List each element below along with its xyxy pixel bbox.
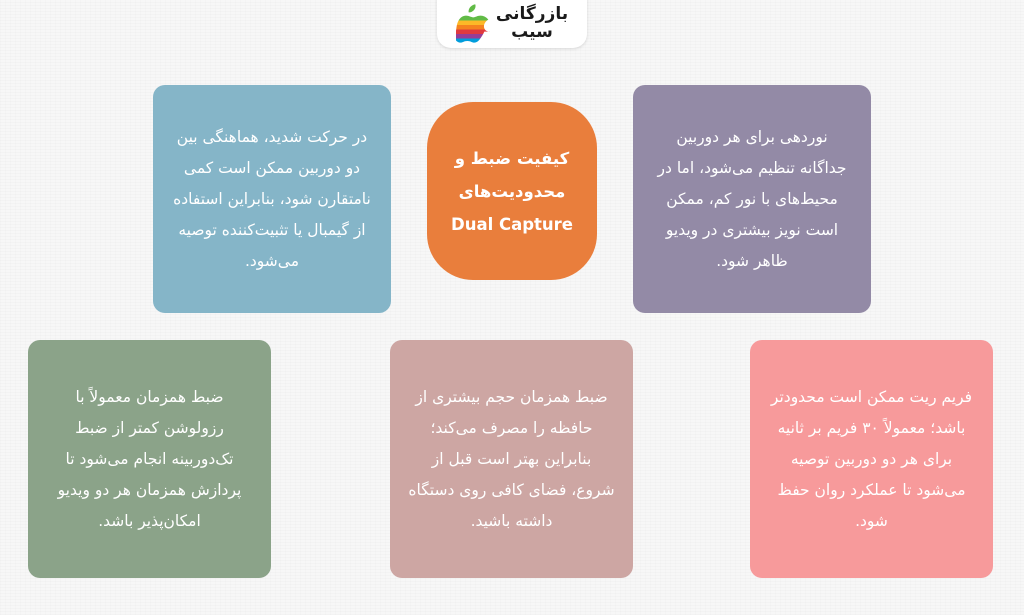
card-exposure-noise-text: نوردهی برای هر دوربین جداگانه تنظیم می‌ش…: [633, 122, 871, 277]
infographic-canvas: بازرگانی سیب: [0, 0, 1024, 615]
card-resolution-text: ضبط همزمان معمولاً با رزولوشن کمتر از ضب…: [28, 382, 271, 537]
brand-name-line-2: سیب: [496, 24, 568, 41]
hub-title-text: کیفیت ضبط و محدودیت‌های Dual Capture: [427, 142, 597, 241]
card-storage: ضبط همزمان حجم بیشتری از حافظه را مصرف م…: [390, 340, 633, 578]
card-motion-sync: در حرکت شدید، هماهنگی بین دو دوربین ممکن…: [153, 85, 391, 313]
brand-name: بازرگانی سیب: [496, 6, 568, 41]
hub-title-card: کیفیت ضبط و محدودیت‌های Dual Capture: [427, 102, 597, 280]
card-storage-text: ضبط همزمان حجم بیشتری از حافظه را مصرف م…: [390, 382, 633, 537]
card-motion-sync-text: در حرکت شدید، هماهنگی بین دو دوربین ممکن…: [153, 122, 391, 277]
brand-logo-badge: بازرگانی سیب: [437, 0, 587, 48]
brand-name-line-1: بازرگانی: [496, 6, 568, 23]
rainbow-apple-icon: [456, 3, 490, 43]
card-exposure-noise: نوردهی برای هر دوربین جداگانه تنظیم می‌ش…: [633, 85, 871, 313]
card-framerate: فریم ریت ممکن است محدودتر باشد؛ معمولاً …: [750, 340, 993, 578]
card-resolution: ضبط همزمان معمولاً با رزولوشن کمتر از ضب…: [28, 340, 271, 578]
card-framerate-text: فریم ریت ممکن است محدودتر باشد؛ معمولاً …: [750, 382, 993, 537]
